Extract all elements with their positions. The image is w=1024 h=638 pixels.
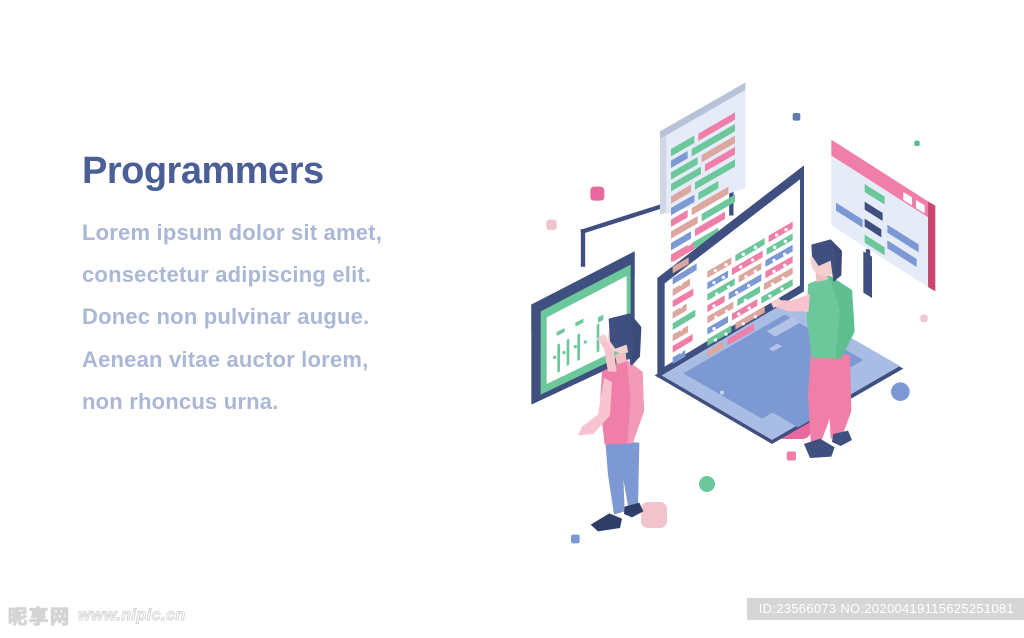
- body-line: non rhoncus urna.: [82, 381, 482, 423]
- body-line: Donec non pulvinar augue.: [82, 296, 482, 338]
- nipic-logo: 昵享网 www.nipic.cn: [8, 602, 186, 629]
- decor-circle-blue: [891, 382, 910, 401]
- footer-watermark-bar: 昵享网 www.nipic.cn ID:23566073 NO:20200419…: [0, 594, 1024, 638]
- decor-dot-pink-pale-right: [920, 315, 927, 322]
- body-line: consectetur adipiscing elit.: [82, 254, 482, 296]
- page-canvas: Programmers Lorem ipsum dolor sit amet, …: [0, 0, 1024, 638]
- decor-square-pink: [590, 187, 604, 201]
- body-paragraph: Lorem ipsum dolor sit amet, consectetur …: [82, 212, 482, 423]
- body-line: Aenean vitae auctor lorem,: [82, 339, 482, 381]
- decor-square-blue-bottom: [571, 535, 580, 544]
- nipic-logo-cn: 昵享网: [8, 602, 71, 629]
- decor-square-navy: [793, 113, 801, 121]
- body-line: Lorem ipsum dolor sit amet,: [82, 212, 482, 254]
- nipic-logo-url: www.nipic.cn: [78, 607, 186, 625]
- text-column: Programmers Lorem ipsum dolor sit amet, …: [82, 152, 482, 423]
- page-title: Programmers: [82, 152, 482, 190]
- decor-circle-green: [699, 476, 715, 492]
- decor-square-pink-pale: [546, 220, 556, 230]
- decor-square-pink-mid: [787, 451, 796, 460]
- decor-dot-green-small: [914, 141, 919, 146]
- image-id-badge: ID:23566073 NO:20200419115625251081: [747, 598, 1024, 620]
- isometric-programmers-illustration: [498, 78, 998, 578]
